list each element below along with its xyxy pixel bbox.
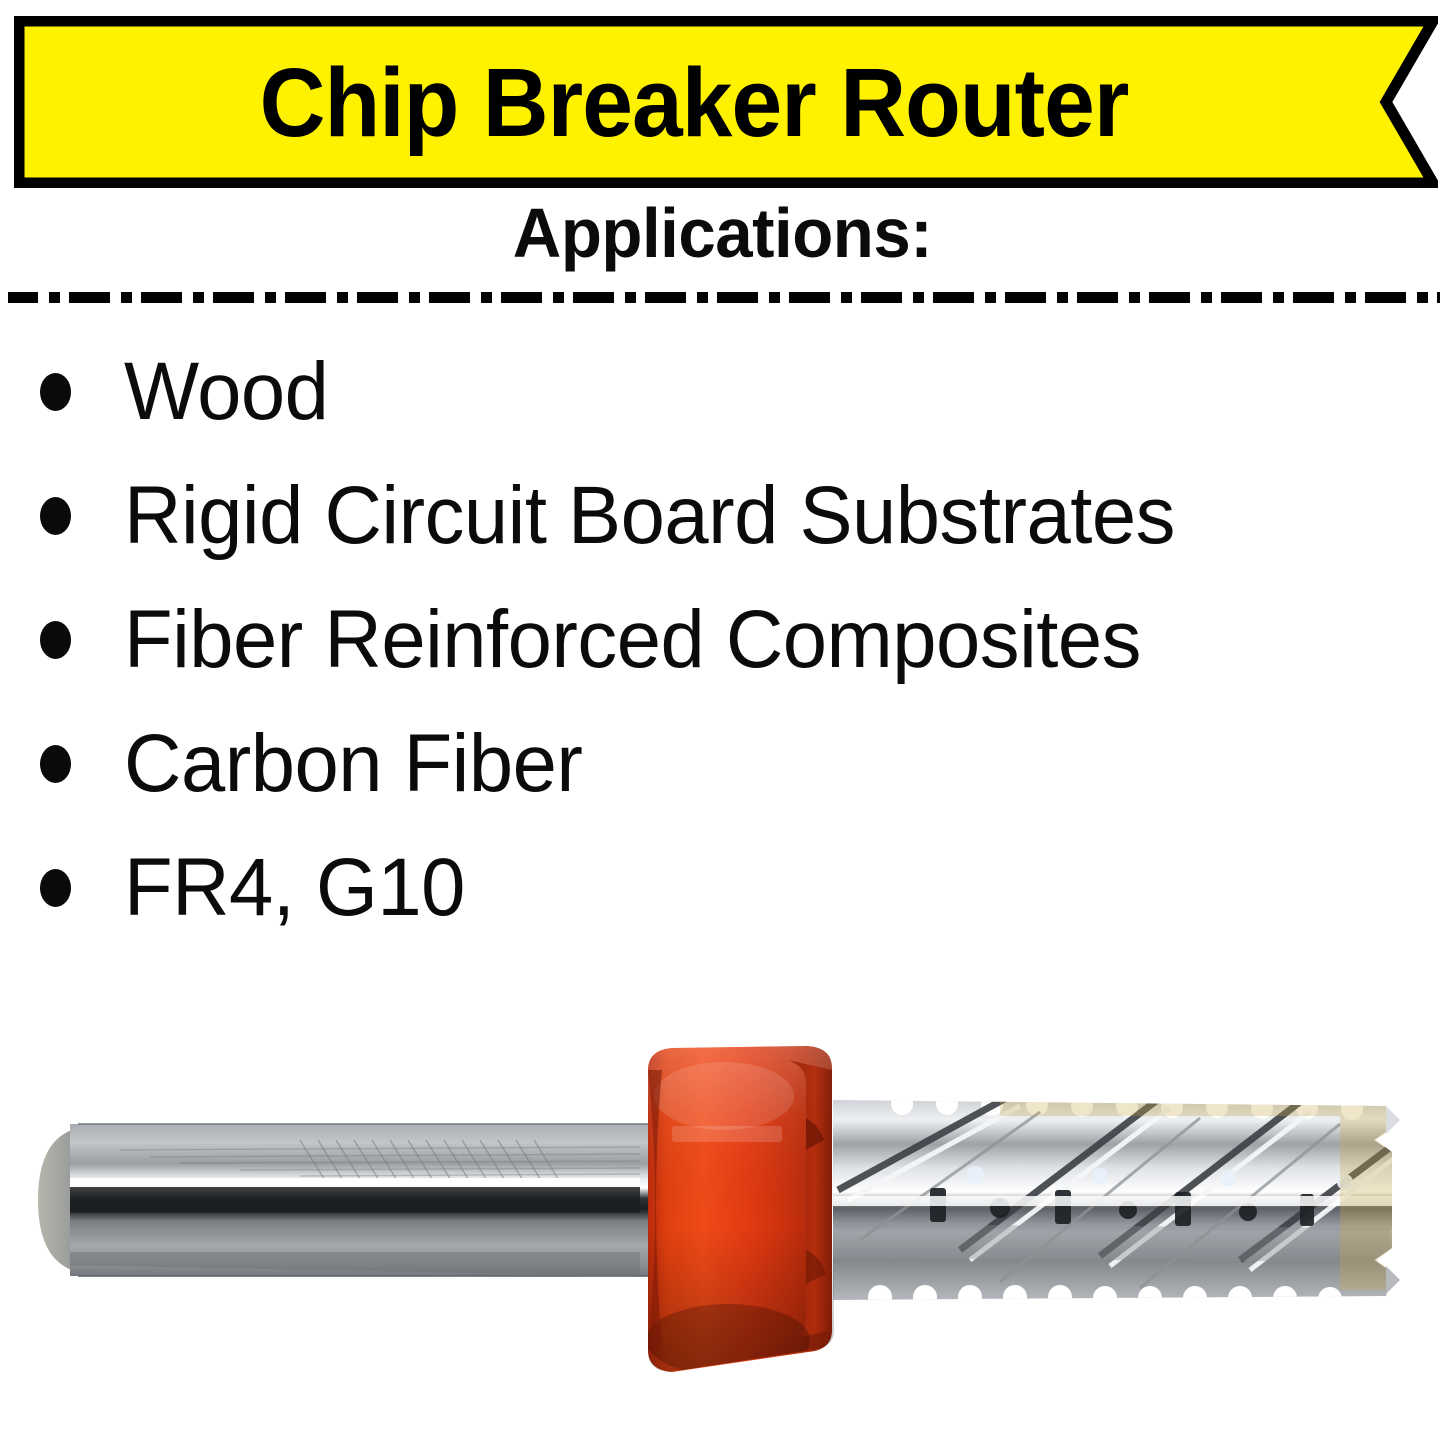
tool-cutting-flutes — [833, 1086, 1405, 1311]
list-item-label: Wood — [124, 351, 328, 433]
list-item: Wood — [0, 330, 1445, 454]
product-photo — [0, 1000, 1445, 1400]
page-title: Chip Breaker Router — [55, 16, 1333, 188]
list-item-label: Carbon Fiber — [124, 723, 582, 805]
bullet-dot-icon — [40, 869, 71, 907]
list-item: Carbon Fiber — [0, 702, 1445, 826]
applications-list: Wood Rigid Circuit Board Substrates Fibe… — [0, 330, 1445, 950]
list-item: Fiber Reinforced Composites — [0, 578, 1445, 702]
tool-shank — [38, 1124, 665, 1276]
bullet-dot-icon — [40, 497, 71, 535]
title-banner: Chip Breaker Router — [14, 16, 1438, 188]
bullet-dot-icon — [40, 373, 71, 411]
applications-heading: Applications: — [29, 196, 1416, 272]
list-item-label: Rigid Circuit Board Substrates — [124, 475, 1175, 557]
red-depth-stop-collar — [640, 1040, 840, 1380]
bullet-dot-icon — [40, 745, 71, 783]
list-item-label: Fiber Reinforced Composites — [124, 599, 1141, 681]
router-bit-illustration — [0, 1000, 1445, 1400]
list-item-label: FR4, G10 — [124, 847, 465, 929]
list-item: Rigid Circuit Board Substrates — [0, 454, 1445, 578]
section-divider — [8, 292, 1440, 303]
product-infographic: Chip Breaker Router Applications: Wood R… — [0, 0, 1445, 1445]
bullet-dot-icon — [40, 621, 71, 659]
list-item: FR4, G10 — [0, 826, 1445, 950]
